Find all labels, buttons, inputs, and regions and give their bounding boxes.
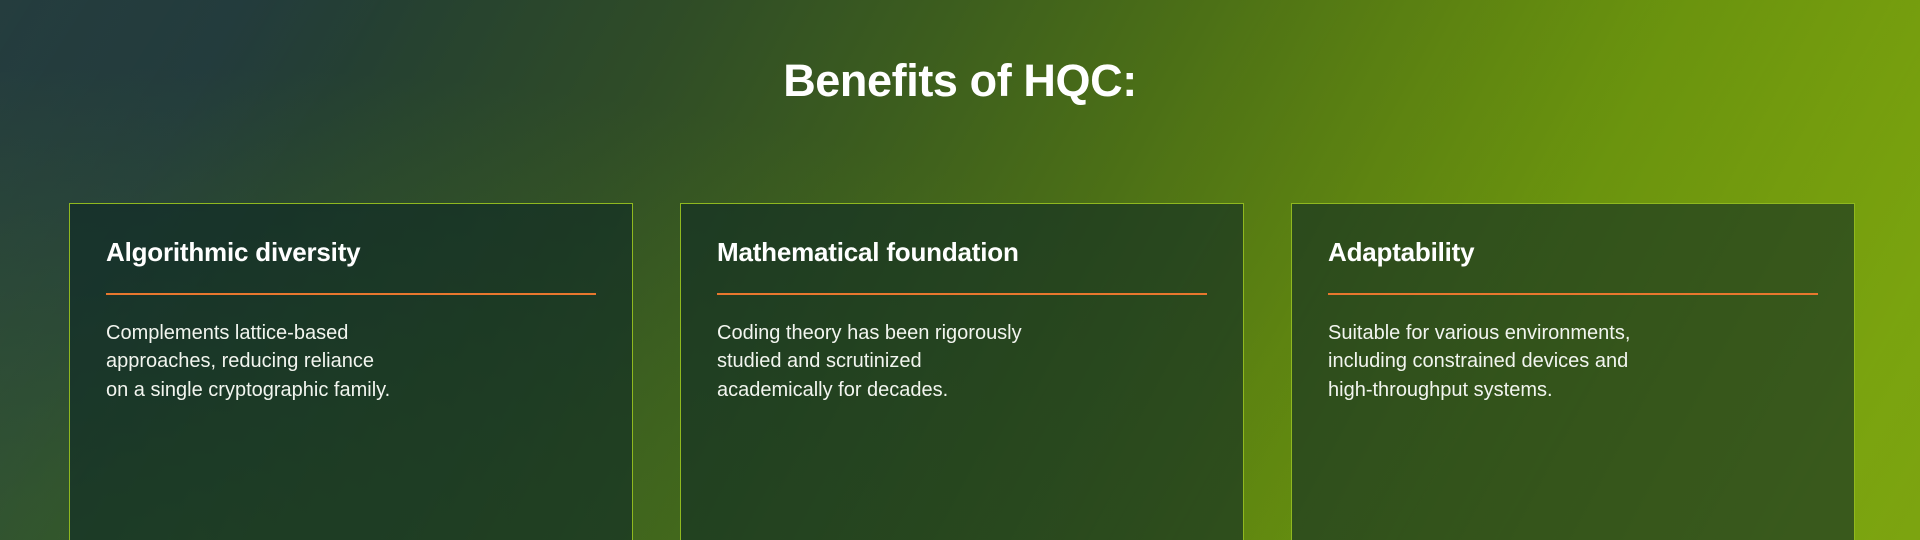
page-title: Benefits of HQC: <box>783 58 1137 107</box>
card-divider <box>717 293 1207 295</box>
card-body-text: Suitable for various environments, inclu… <box>1328 319 1818 404</box>
benefit-card-adaptability: Adaptability Suitable for various enviro… <box>1291 203 1855 540</box>
card-divider <box>1328 293 1818 295</box>
benefit-card-mathematical-foundation: Mathematical foundation Coding theory ha… <box>680 203 1244 540</box>
card-divider <box>106 293 596 295</box>
card-heading: Algorithmic diversity <box>106 238 596 268</box>
benefit-card-algorithmic-diversity: Algorithmic diversity Complements lattic… <box>69 203 633 540</box>
title-section: Benefits of HQC: <box>0 0 1920 165</box>
card-content: Adaptability Suitable for various enviro… <box>1328 238 1818 404</box>
card-heading: Mathematical foundation <box>717 238 1207 268</box>
card-body-text: Complements lattice-based approaches, re… <box>106 319 596 404</box>
card-content: Algorithmic diversity Complements lattic… <box>106 238 596 404</box>
card-heading: Adaptability <box>1328 238 1818 268</box>
card-body-text: Coding theory has been rigorously studie… <box>717 319 1207 404</box>
card-content: Mathematical foundation Coding theory ha… <box>717 238 1207 404</box>
benefits-card-row: Algorithmic diversity Complements lattic… <box>69 203 1855 540</box>
